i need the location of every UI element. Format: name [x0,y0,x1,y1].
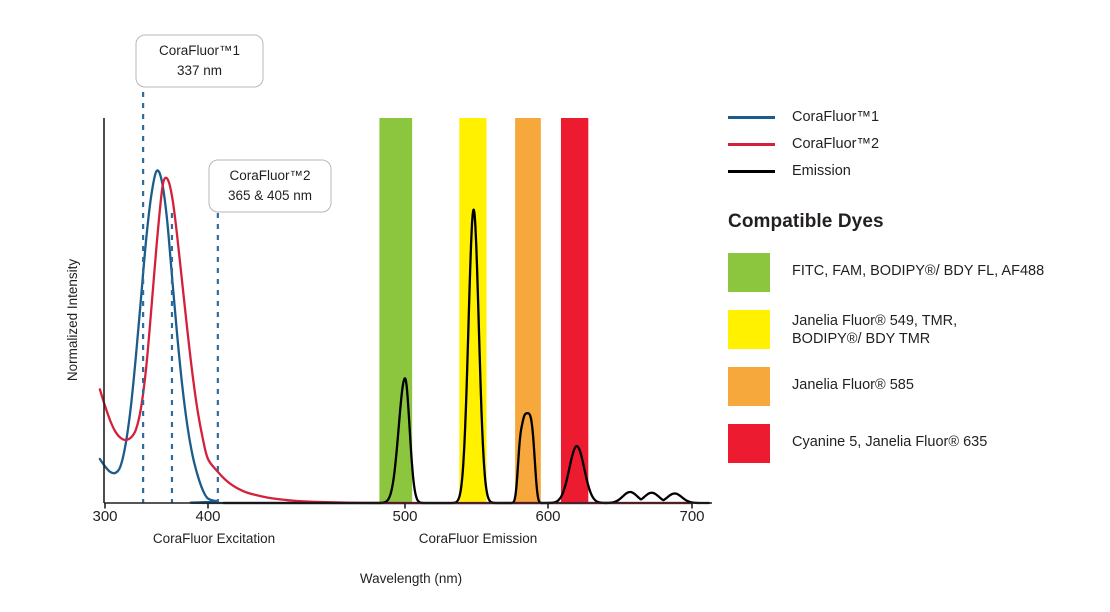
spectra-chart: 300 400 500 600 700 CoraFluor Excitation… [0,0,720,612]
region-label-excitation: CoraFluor Excitation [153,531,275,546]
callout-2-line2: 365 & 405 nm [228,188,312,203]
excitation-marker-group [143,92,218,503]
dye-legend-row-3[interactable]: Cyanine 5, Janelia Fluor® 635 [728,424,1098,463]
dye-color-swatch-0 [728,253,770,292]
legend-panel: CoraFluor™1CoraFluor™2Emission Compatibl… [728,104,1098,481]
emission-band-0 [379,118,412,503]
region-label-emission: CoraFluor Emission [419,531,538,546]
dye-label-3: Cyanine 5, Janelia Fluor® 635 [792,424,987,451]
dye-label-0: FITC, FAM, BODIPY®/ BDY FL, AF488 [792,253,1044,280]
chart-canvas: 300 400 500 600 700 CoraFluor Excitation… [0,0,720,612]
callout-corafluor2: CoraFluor™2 365 & 405 nm [209,160,331,212]
callout-2-line1: CoraFluor™2 [229,168,310,183]
legend-series-label-0: CoraFluor™1 [792,110,879,125]
legend-line-swatch-2 [728,170,775,173]
callout-1-line2: 337 nm [177,63,222,78]
dye-legend-row-0[interactable]: FITC, FAM, BODIPY®/ BDY FL, AF488 [728,253,1098,292]
legend-series-row-0[interactable]: CoraFluor™1 [728,104,1098,131]
x-tick-label-500: 500 [392,508,417,525]
dye-legend-row-1[interactable]: Janelia Fluor® 549, TMR,BODIPY®/ BDY TMR [728,310,1098,349]
dye-label-2: Janelia Fluor® 585 [792,367,914,394]
x-tick-label-400: 400 [195,508,220,525]
dye-color-swatch-3 [728,424,770,463]
emission-band-3 [561,118,588,503]
dye-color-swatch-1 [728,310,770,349]
callout-1-line1: CoraFluor™1 [159,43,240,58]
series-legend: CoraFluor™1CoraFluor™2Emission [728,104,1098,185]
dye-legend-row-2[interactable]: Janelia Fluor® 585 [728,367,1098,406]
dye-label-line1-1: Janelia Fluor® 549, TMR, [792,312,957,330]
y-axis-title: Normalized Intensity [65,259,80,382]
figure-root: 300 400 500 600 700 CoraFluor Excitation… [0,0,1110,612]
legend-series-row-2[interactable]: Emission [728,158,1098,185]
legend-line-swatch-1 [728,143,775,146]
dye-label-line2-1: BODIPY®/ BDY TMR [792,330,957,348]
legend-series-label-1: CoraFluor™2 [792,137,879,152]
legend-series-label-2: Emission [792,164,851,179]
dye-legend-list: FITC, FAM, BODIPY®/ BDY FL, AF488Janelia… [728,253,1098,463]
compatible-dyes-heading: Compatible Dyes [728,211,1098,233]
x-tick-label-300: 300 [92,508,117,525]
x-tick-label-600: 600 [535,508,560,525]
legend-series-row-1[interactable]: CoraFluor™2 [728,131,1098,158]
x-tick-label-700: 700 [679,508,704,525]
x-axis-title: Wavelength (nm) [360,571,462,586]
dye-label-1: Janelia Fluor® 549, TMR,BODIPY®/ BDY TMR [792,310,957,348]
callout-corafluor1: CoraFluor™1 337 nm [136,35,263,87]
legend-line-swatch-0 [728,116,775,119]
dye-color-swatch-2 [728,367,770,406]
